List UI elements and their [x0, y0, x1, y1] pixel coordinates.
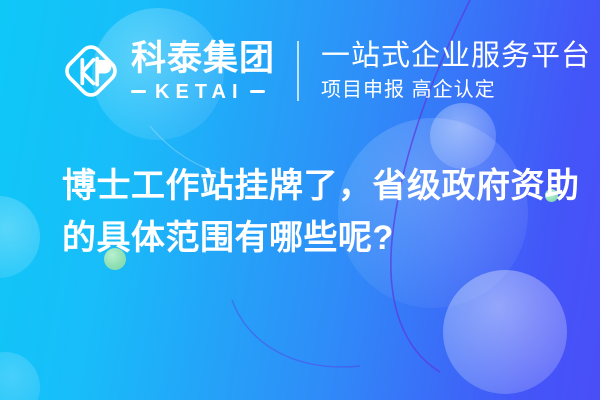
headline: 博士工作站挂牌了，省级政府资助 的具体范围有哪些呢? [62, 160, 562, 264]
dash-left-icon [131, 90, 146, 93]
decorative-circle-bottom-right [443, 270, 567, 394]
tagline-block: 一站式企业服务平台 项目申报 高企认定 [321, 41, 591, 101]
decorative-circle-left [0, 196, 40, 278]
tagline-main: 一站式企业服务平台 [321, 41, 591, 71]
banner-header: 科泰集团 KETAI 一站式企业服务平台 项目申报 高企认定 [60, 40, 591, 102]
headline-line-2: 的具体范围有哪些呢? [62, 212, 562, 264]
brand-wordmark: 科泰集团 KETAI [131, 41, 275, 102]
brand-name-en: KETAI [146, 82, 250, 102]
decorative-circle-bottom-left [0, 352, 40, 400]
brand-name-cn: 科泰集团 [131, 41, 275, 76]
header-divider [297, 41, 299, 101]
dash-right-icon [250, 90, 265, 93]
brand-name-en-row: KETAI [131, 82, 275, 102]
tagline-sub: 项目申报 高企认定 [321, 80, 591, 101]
headline-line-1: 博士工作站挂牌了，省级政府资助 [62, 160, 562, 212]
promo-banner: 科泰集团 KETAI 一站式企业服务平台 项目申报 高企认定 博士工作站挂牌了，… [0, 0, 600, 400]
ketai-kp-monogram-icon [60, 40, 122, 102]
